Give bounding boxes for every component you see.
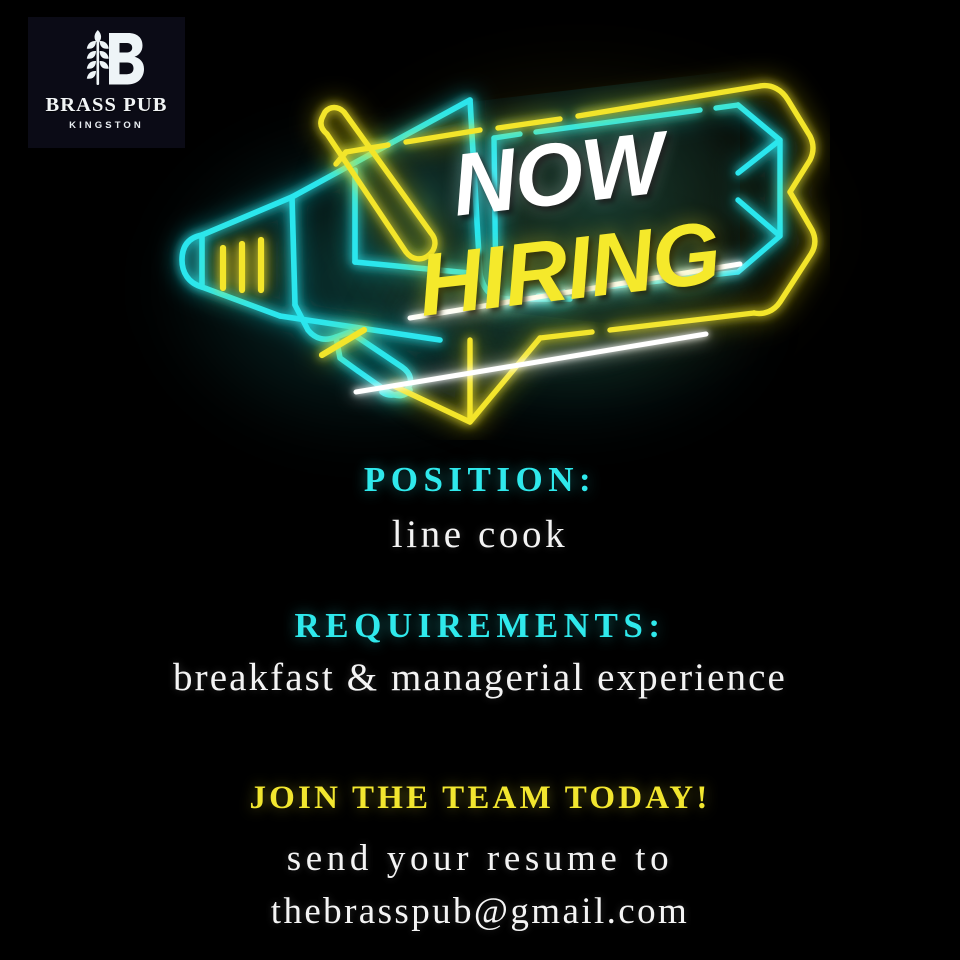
position-label: POSITION: [0,462,960,499]
cta-headline: JOIN THE TEAM TODAY! [0,781,960,816]
requirements-label: REQUIREMENTS: [0,608,960,645]
poster-copy: POSITION: line cook REQUIREMENTS: breakf… [0,462,960,932]
wheat-stalk-b-monogram-icon [69,27,145,89]
cta-email-address: thebrasspub@gmail.com [0,893,960,932]
position-value: line cook [0,515,960,556]
requirements-value: breakfast & managerial experience [0,658,960,699]
now-hiring-poster: BRASS PUB KINGSTON [0,0,960,960]
brand-subtitle: KINGSTON [69,121,144,131]
cta-instruction: send your resume to [0,840,960,879]
